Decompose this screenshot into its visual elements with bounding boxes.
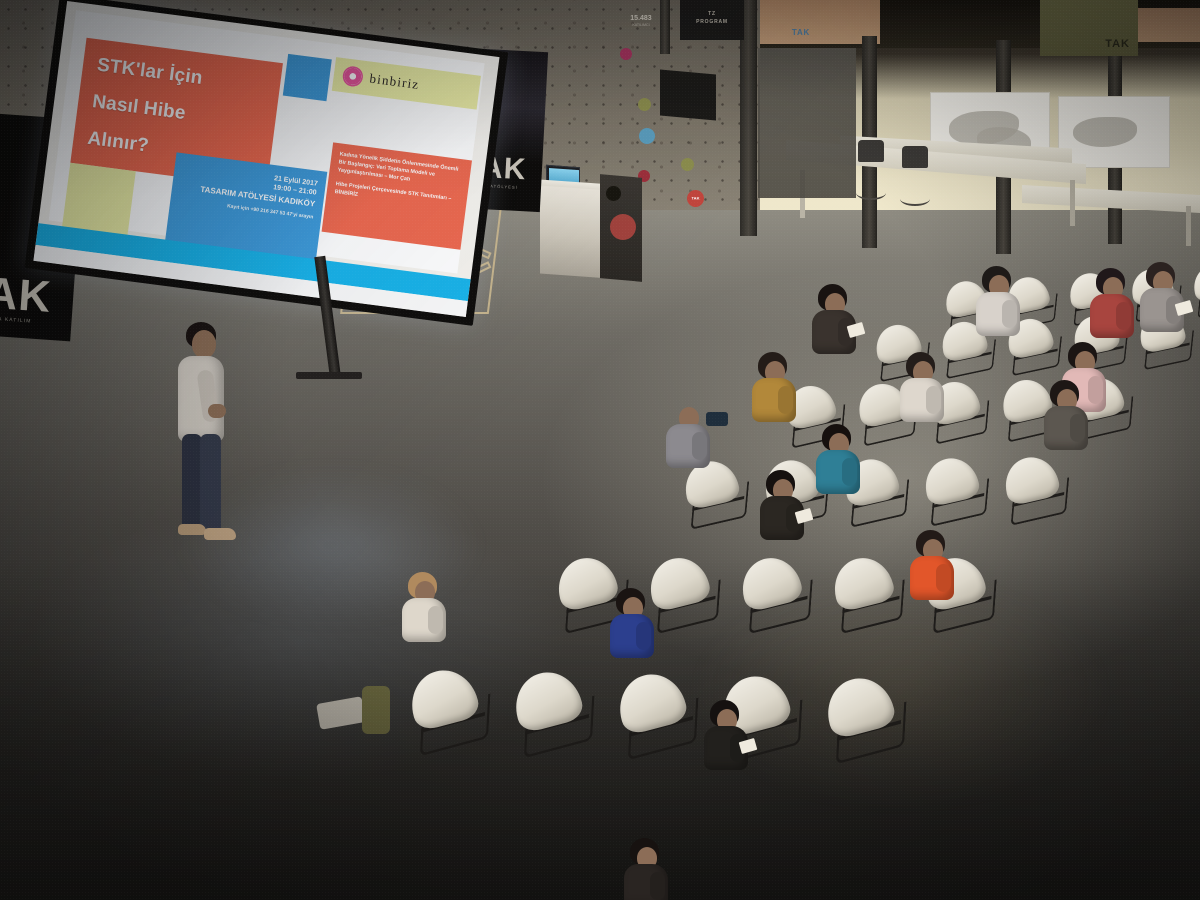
binbiriz-logo-wordmark: binbiriz [369, 71, 421, 93]
attendee-black-front [700, 700, 760, 786]
attendee-arm [692, 432, 707, 460]
attendee-dark-row2 [808, 284, 868, 370]
presenter-head [192, 330, 216, 358]
attendee-arm [926, 386, 941, 414]
wall-badge-4 [681, 158, 694, 171]
projection-screen-foot [296, 372, 362, 379]
table-leg-3 [1186, 206, 1191, 246]
table-leg-2 [1070, 180, 1075, 226]
attendee-orange-notes [906, 530, 966, 616]
slide-yellow-square [62, 163, 136, 237]
attendee-arm [650, 872, 665, 900]
wall-badge-1 [638, 98, 651, 111]
attendee-arm [778, 386, 793, 414]
visitor-counter-label: KATILIMCI [614, 23, 668, 28]
program-panel-line2: PROGRAM [696, 19, 728, 25]
attendee-notepaper [739, 738, 758, 754]
attendee-darkhair-row4 [756, 470, 816, 556]
wall-dark-plaque [660, 70, 716, 121]
wall-badge-5: TAK [687, 190, 704, 207]
presenter [170, 322, 262, 548]
presenter-hands [208, 404, 226, 418]
attendee-notepaper [795, 508, 814, 524]
attendee-mustard [748, 352, 808, 438]
attendee-arm [428, 606, 443, 634]
program-panel: TZ PROGRAM [680, 0, 744, 40]
cabinet-sticker-badge [610, 214, 636, 240]
wall-badge-label-5: TAK [687, 196, 704, 201]
attendee-grey-back [1136, 262, 1196, 348]
office-chair-base-1 [856, 186, 886, 200]
attendee-blonde-row3 [662, 398, 722, 484]
visitor-counter-panel: 15.483 KATILIMCI [614, 14, 668, 48]
slide-blue-square [283, 54, 332, 101]
floor-tote-bag [362, 686, 390, 734]
attendee-bottom-edge [620, 838, 680, 900]
attendee-cream-front [398, 572, 458, 658]
presenter-shoe-left [178, 524, 206, 535]
attendee-white-row2 [896, 352, 956, 438]
hanging-tak-sign-label: TAK [1105, 38, 1130, 50]
attendee-blue-notes [606, 588, 666, 674]
program-panel-line1: TZ [708, 11, 716, 17]
binbiriz-logo-icon [342, 65, 364, 87]
slide-logo-block: binbiriz [332, 57, 481, 110]
wall-map-display-2 [1058, 96, 1170, 168]
panel-tak-sign: TAK [775, 16, 827, 48]
attendee-arm [1070, 414, 1085, 442]
presenter-leg-left [182, 434, 202, 530]
attendee-white-back [972, 266, 1032, 352]
attendee-arm [1116, 302, 1131, 330]
attendee-arm [842, 458, 857, 486]
hanging-tak-sign: TAK [1040, 0, 1138, 56]
projection-screen-surface: STK'lar İçin Nasıl Hibe Alınır? binbiriz… [33, 1, 499, 317]
attendee-notepaper [1175, 300, 1194, 316]
projection-screen: STK'lar İçin Nasıl Hibe Alınır? binbiriz… [21, 0, 526, 352]
photo-scene: TAK TAK TZ PROGRAM 15.483 KATILIMCI TAKT… [0, 0, 1200, 900]
attendee-teal-beard [812, 424, 872, 510]
office-chair-1 [858, 140, 884, 162]
slide-session-list-block: Kadına Yönelik Şiddetin Önlenmesinde Öne… [322, 142, 472, 249]
wall-badge-2 [639, 128, 655, 144]
office-chair-2 [902, 146, 928, 168]
attendee-arm [936, 564, 951, 592]
office-chair-base-2 [900, 192, 930, 206]
chalkboard-panel [758, 48, 856, 198]
presenter-shoe-right [204, 528, 236, 540]
wall-badge-6 [620, 48, 632, 60]
attendee-arm [1002, 300, 1017, 328]
attendee-grey-cap [1040, 380, 1100, 466]
panel-tak-sign-label: TAK [792, 28, 810, 37]
visitor-counter-value: 15.483 [630, 15, 651, 22]
attendee-notepaper [847, 322, 866, 338]
presenter-leg-right [200, 434, 221, 534]
attendee-arm [636, 622, 651, 650]
cabinet-knob [606, 186, 621, 201]
